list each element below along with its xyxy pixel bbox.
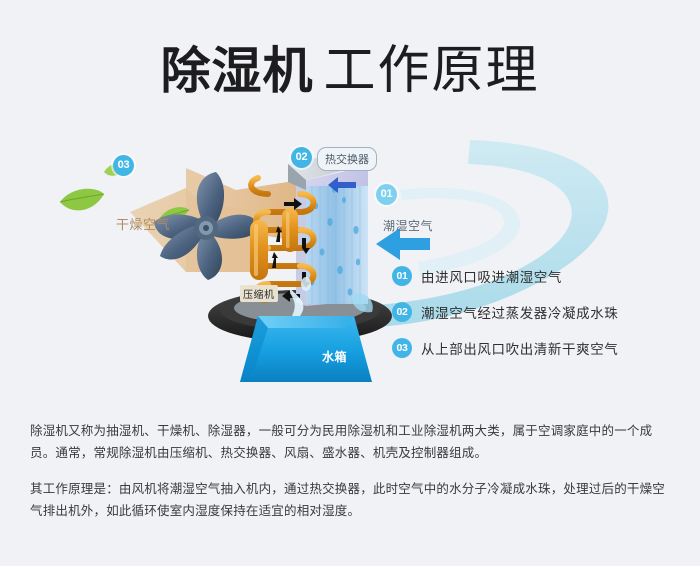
legend-badge-02: 02: [392, 302, 412, 322]
leaf-icon-1: [60, 189, 104, 211]
page-title-primary: 除湿机: [160, 43, 313, 99]
legend-badge-03: 03: [392, 338, 412, 358]
paragraph-2: 其工作原理是：由风机将潮湿空气抽入机内，通过热交换器，此时空气中的水分子冷凝成水…: [30, 478, 675, 522]
compressor-body: [250, 220, 268, 280]
label-water-tank: 水箱: [322, 348, 347, 365]
badge-01-diagram: 01: [376, 184, 397, 205]
legend-badge-01: 01: [392, 266, 412, 286]
page-title: 除湿机工作原理: [0, 28, 700, 103]
accumulator-body: [282, 208, 298, 252]
legend-item-03: 03 从上部出风口吹出清新干爽空气: [392, 330, 692, 366]
legend-text-01: 由进风口吸进潮湿空气: [421, 266, 562, 286]
paragraph-1: 除湿机又称为抽湿机、干燥机、除湿器，一般可分为民用除湿机和工业除湿机两大类，属于…: [30, 420, 675, 464]
description-section: 除湿机又称为抽湿机、干燥机、除湿器，一般可分为民用除湿机和工业除湿机两大类，属于…: [30, 420, 675, 522]
legend-text-02: 潮湿空气经过蒸发器冷凝成水珠: [421, 302, 618, 322]
legend-item-01: 01 由进风口吸进潮湿空气: [392, 258, 692, 294]
legend-text-03: 从上部出风口吹出清新干爽空气: [421, 338, 618, 358]
page-title-secondary: 工作原理: [323, 42, 539, 100]
badge-02-diagram: 02: [291, 147, 312, 168]
label-dry-air: 干燥空气: [116, 214, 170, 233]
legend-item-02: 02 潮湿空气经过蒸发器冷凝成水珠: [392, 294, 692, 330]
callout-heat-exchanger: 热交换器: [317, 147, 377, 171]
legend-list: 01 由进风口吸进潮湿空气 02 潮湿空气经过蒸发器冷凝成水珠 03 从上部出风…: [392, 258, 692, 366]
label-heat-exchanger: 热交换器: [325, 154, 369, 166]
label-humid-air: 潮湿空气: [383, 217, 433, 234]
label-compressor: 压缩机: [240, 285, 278, 302]
badge-03-diagram: 03: [113, 155, 134, 176]
